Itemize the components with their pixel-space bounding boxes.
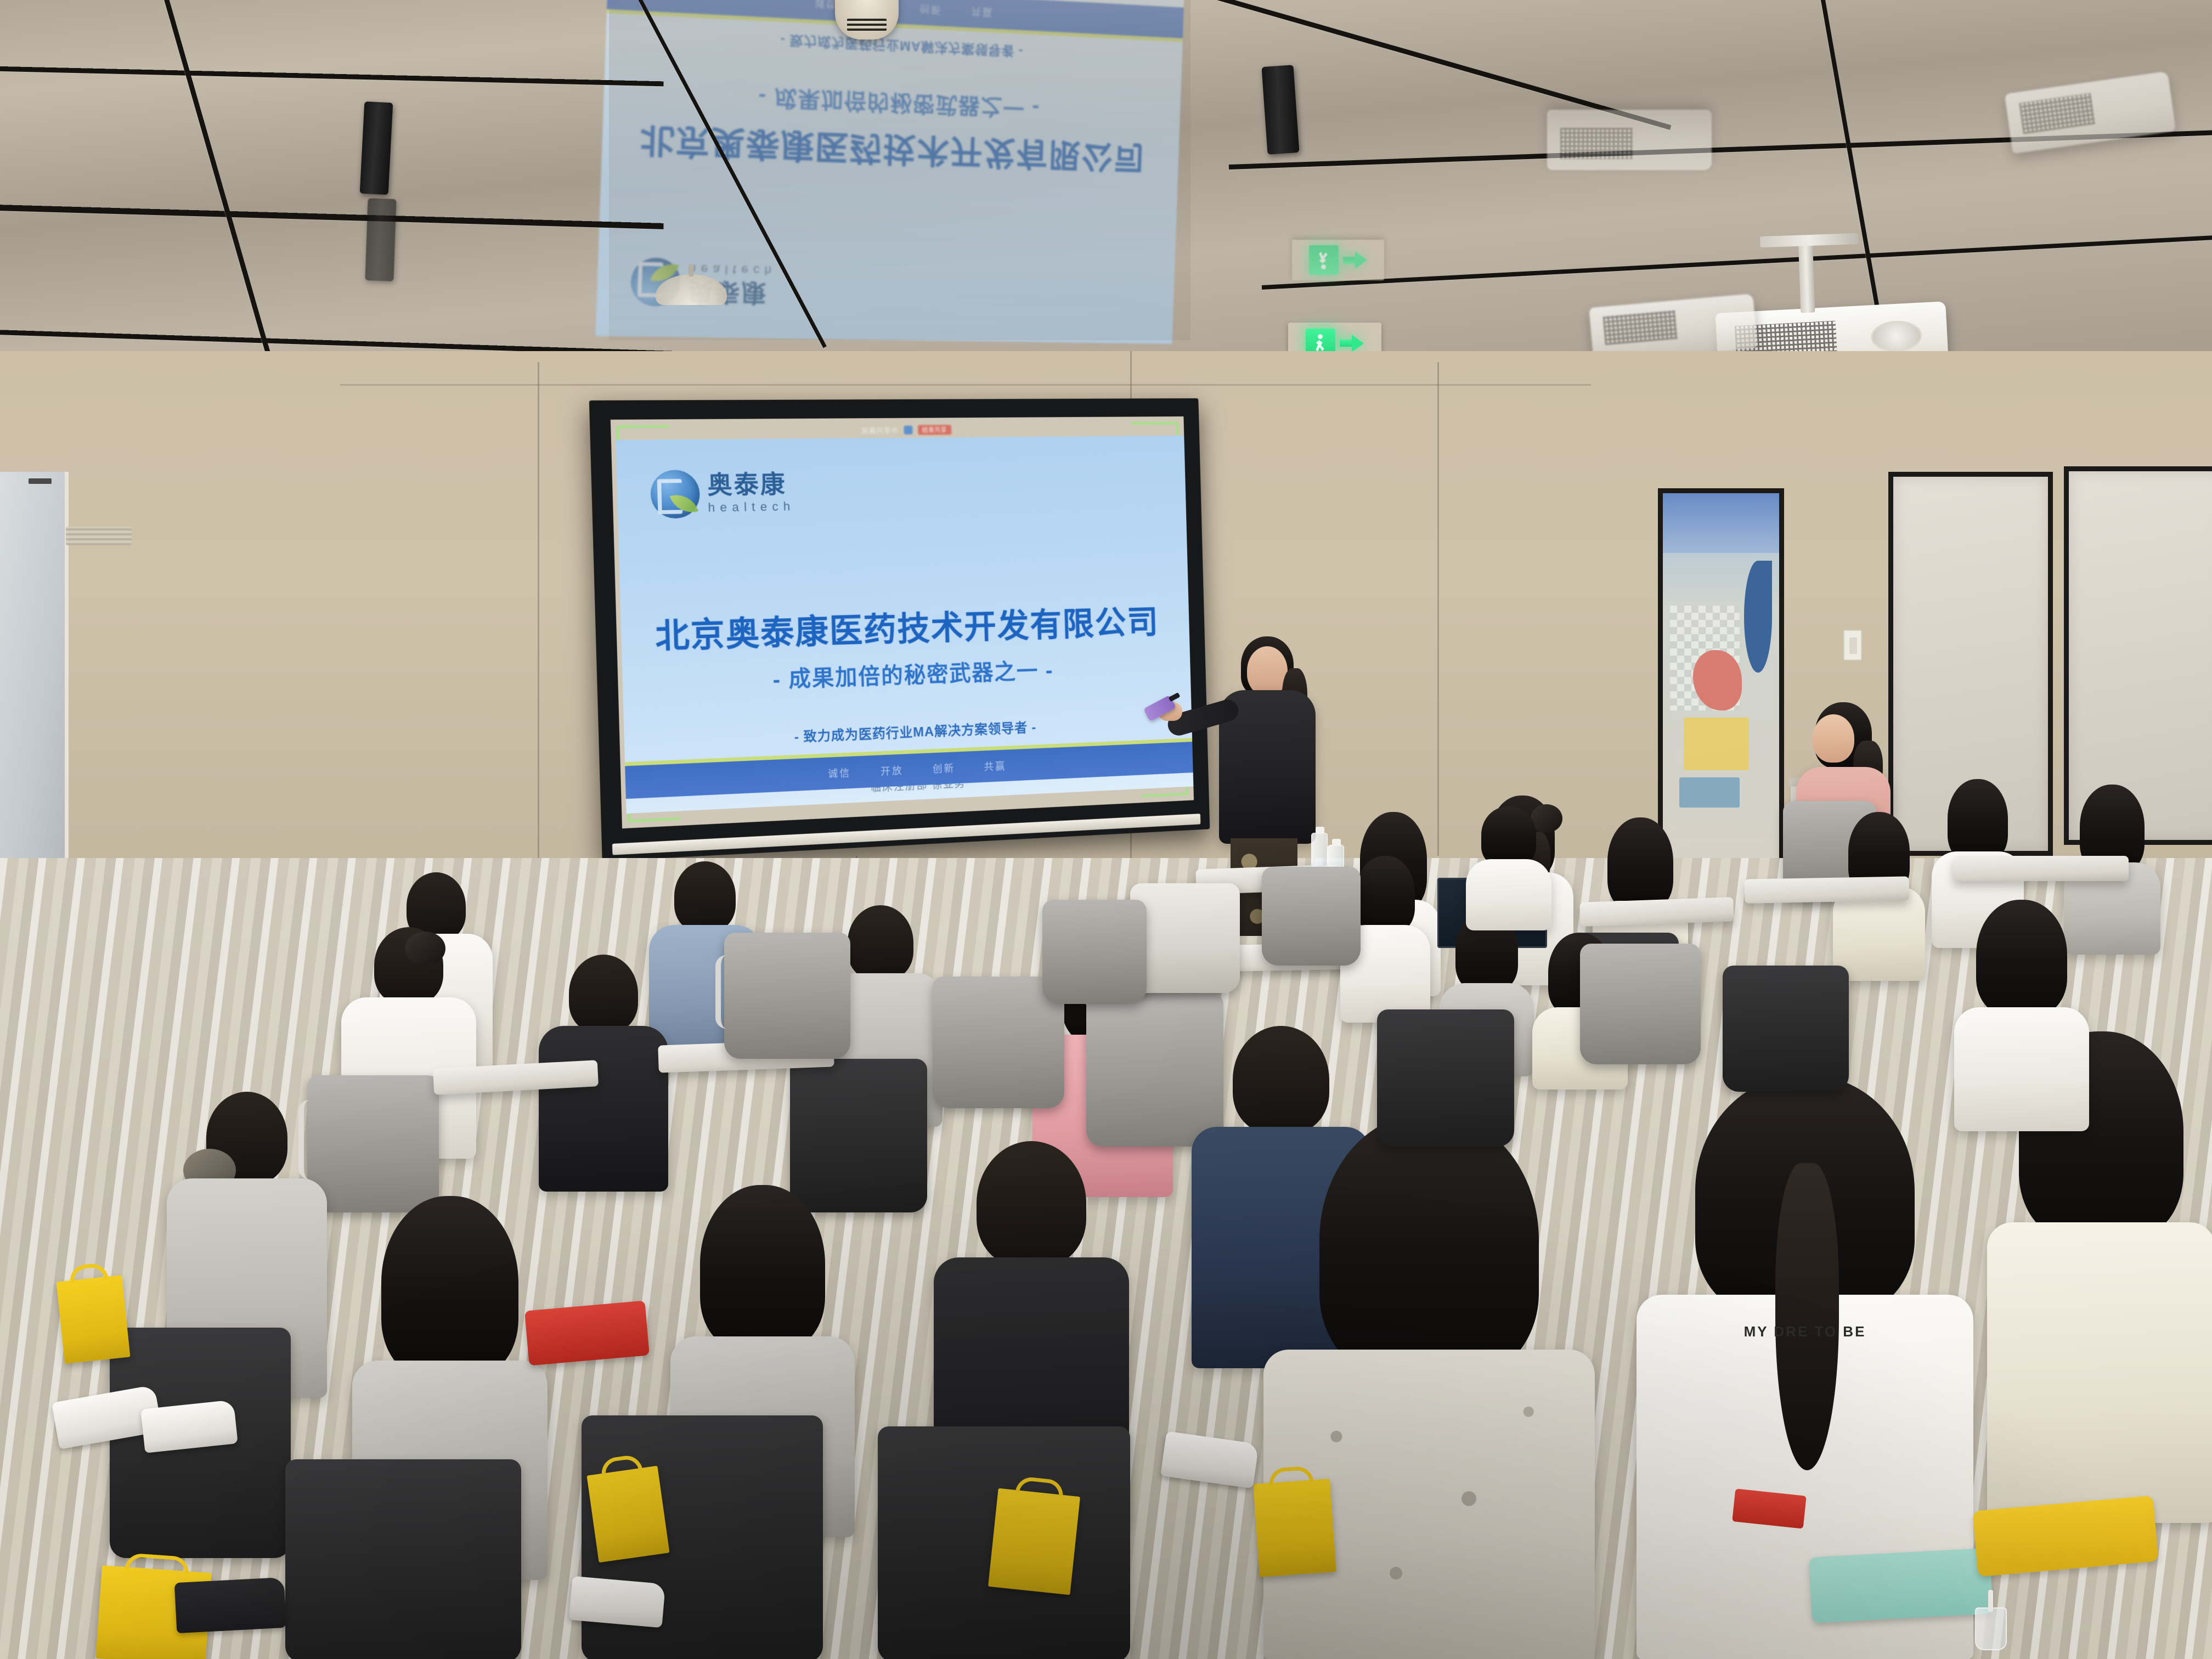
hair [1948, 779, 2008, 861]
alignment-corner-icon [627, 793, 680, 822]
chair [1130, 883, 1240, 993]
ceiling-projector-reflection [1547, 110, 1712, 170]
slide-title: 北京奥泰康医药技术开发有限公司 [620, 595, 1189, 659]
wall-speaker-reflection-2 [365, 198, 396, 281]
drink-cup [1975, 1607, 2007, 1650]
footer-value-0-r: 诚信 [814, 0, 838, 12]
wall-seam [1437, 362, 1439, 856]
stop-share-button[interactable]: 结束共享 [918, 425, 951, 435]
share-screen-icon[interactable] [904, 425, 912, 434]
screen-frame: 屏幕共享中 结束共享 奥泰康 healtech 北京奥泰康医药技术开发有限公司 … [589, 398, 1210, 861]
head [977, 1141, 1086, 1266]
sneaker [569, 1576, 665, 1628]
tablet-desk [1745, 876, 1910, 903]
logo-english-name: healtech [708, 500, 795, 514]
head [569, 955, 638, 1032]
chair [724, 933, 850, 1059]
slide-subtitle: - 成果加倍的秘密武器之一 - [622, 648, 1190, 699]
light-switch[interactable] [1843, 630, 1862, 661]
chair [285, 1459, 521, 1659]
wall-recess-bracket [29, 478, 52, 484]
footer-value-2-r: 创新 [919, 2, 943, 18]
wall-vent-grille [66, 527, 132, 545]
alignment-corner-icon [617, 425, 670, 453]
tablet-desk [1953, 856, 2129, 881]
presenter-head [1247, 646, 1288, 696]
torso [1954, 1007, 2089, 1131]
hair [381, 1196, 518, 1377]
audience-member [1262, 1114, 1596, 1657]
conference-room-photo: 奥泰康 healtech 北京奥泰康医药技术开发有限公司 - 成果加倍的秘密武器… [0, 0, 2212, 1659]
sneaker [174, 1577, 287, 1633]
tote-bag [56, 1275, 130, 1364]
wall-seam-horizontal [340, 384, 1591, 386]
chair [1262, 867, 1361, 966]
wall-speaker-reflection-3 [1261, 65, 1299, 155]
exit-arrow-right-icon [1343, 251, 1367, 269]
exit-running-person-icon [1309, 245, 1339, 275]
torso [1466, 859, 1551, 930]
chair [1723, 966, 1849, 1092]
logo-chinese-name: 奥泰康 [707, 472, 795, 498]
chair [1580, 944, 1701, 1064]
screen-share-toolbar[interactable]: 屏幕共享中 结束共享 [861, 424, 951, 435]
tote-bag [586, 1466, 669, 1563]
projector-mount-pole [1798, 236, 1815, 313]
presentation-slide: 奥泰康 healtech 北京奥泰康医药技术开发有限公司 - 成果加倍的秘密武器… [616, 436, 1193, 814]
mural-poster [1663, 493, 1779, 867]
footer-value-2: 创新 [933, 761, 956, 776]
hair [1481, 806, 1536, 866]
slide-logo: 奥泰康 healtech [650, 469, 795, 518]
slide-date: 2025年09月04日 [627, 785, 1194, 814]
water-bottle [1311, 833, 1328, 868]
footer-value-0: 诚信 [828, 765, 851, 781]
chair [1377, 1009, 1514, 1147]
ponytail [1775, 1163, 1839, 1470]
hair [1607, 817, 1673, 910]
logo-english-reflection: healtech [689, 262, 776, 276]
exit-sign-reflection [1292, 240, 1384, 280]
tote-bag [988, 1488, 1080, 1595]
hair [700, 1185, 825, 1350]
footer-value-3: 共赢 [984, 758, 1006, 774]
wall-speaker-reflection [360, 101, 393, 195]
head [848, 905, 913, 980]
audience-member [1953, 900, 2090, 1130]
audience-member [1465, 806, 1553, 927]
hair [1976, 900, 2067, 1015]
glass-pane-mural [1658, 488, 1784, 872]
tote-bag [1253, 1479, 1336, 1577]
footer-value-3-r: 共赢 [971, 5, 994, 20]
hair [1356, 856, 1415, 933]
share-status-label: 屏幕共享中 [861, 425, 899, 436]
hair [1319, 1114, 1539, 1377]
globe-leaf-logo-icon [650, 470, 701, 518]
torso [1987, 1222, 2212, 1523]
projection-screen: 屏幕共享中 结束共享 奥泰康 healtech 北京奥泰康医药技术开发有限公司 … [589, 398, 1210, 861]
hair-bun [405, 932, 445, 966]
exit-arrow-right-icon [1340, 334, 1364, 353]
head [1813, 714, 1854, 763]
screen-surface: 屏幕共享中 结束共享 奥泰康 healtech 北京奥泰康医药技术开发有限公司 … [611, 416, 1194, 828]
head [674, 861, 736, 932]
footer-value-1: 开放 [881, 763, 904, 778]
tshirt-text: MY DRE TO BE [1744, 1323, 1866, 1340]
torso [539, 1026, 668, 1192]
chair [1042, 900, 1147, 1004]
floor-cushion-mint [1809, 1548, 1993, 1623]
red-bag [524, 1301, 650, 1366]
